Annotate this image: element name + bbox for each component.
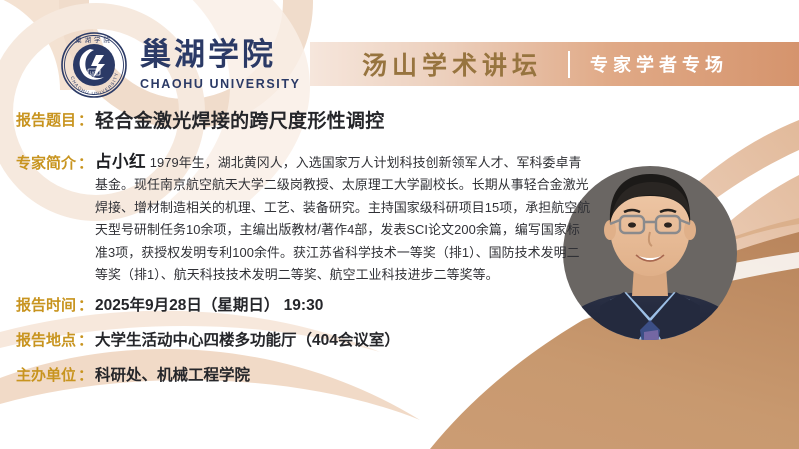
poster-content: 报告题目 ： 轻合金激光焊接的跨尺度形性调控 专家简介 ： 占小红 1979年生… (0, 0, 799, 449)
bio-line-4: 天型号研制任务10余项，主编出版教材/著作4部，发表SCI论文200余篇，编写国… (95, 219, 565, 241)
report-title-row: 报告题目 ： 轻合金激光焊接的跨尺度形性调控 (16, 108, 385, 136)
report-title-label: 报告题目 (16, 108, 76, 134)
report-time-label: 报告时间 (16, 293, 76, 319)
bio-line-3: 焊接、增材制造相关的机理、工艺、装备研究。主持国家级科研项目15项，承担航空航 (95, 197, 565, 219)
report-time-value: 2025年9月28日（星期日） 19:30 (95, 293, 323, 319)
report-place-row: 报告地点 ： 大学生活动中心四楼多功能厅（404会议室） (16, 328, 400, 354)
bio-line-5: 准3项，获授权发明专利100余件。获江苏省科学技术一等奖（排1）、国防技术发明二 (95, 242, 565, 264)
report-place-label: 报告地点 (16, 328, 76, 354)
report-place-colon: ： (76, 328, 95, 354)
report-title-colon: ： (76, 108, 95, 134)
report-place-value: 大学生活动中心四楼多功能厅（404会议室） (95, 328, 400, 354)
report-host-colon: ： (76, 363, 95, 389)
report-host-row: 主办单位 ： 科研处、机械工程学院 (16, 363, 250, 389)
bio-line-1-text: 1979年生，湖北黄冈人，入选国家万人计划科技创新领军人才、军科委卓青 (150, 155, 582, 170)
poster-canvas: 1977 巢湖学院 CHAOHU UNIVERSITY 巢湖学院 CHAOHU … (0, 0, 799, 449)
report-title-value: 轻合金激光焊接的跨尺度形性调控 (95, 108, 385, 136)
bio-line-2: 基金。现任南京航空航天大学二级岗教授、太原理工大学副校长。长期从事轻合金激光 (95, 174, 565, 196)
speaker-bio-colon: ： (76, 151, 95, 177)
report-host-value: 科研处、机械工程学院 (95, 363, 250, 389)
report-time-row: 报告时间 ： 2025年9月28日（星期日） 19:30 (16, 293, 323, 319)
report-host-label: 主办单位 (16, 363, 76, 389)
bio-line-6: 等奖（排1）、航天科技技术发明二等奖、航空工业科技进步二等奖等。 (95, 264, 565, 286)
bio-line-1: 占小红 1979年生，湖北黄冈人，入选国家万人计划科技创新领军人才、军科委卓青 (95, 151, 565, 174)
report-time-colon: ： (76, 293, 95, 319)
speaker-bio-label: 专家简介 (16, 151, 76, 177)
speaker-name: 占小红 (95, 153, 146, 171)
speaker-bio-body: 占小红 1979年生，湖北黄冈人，入选国家万人计划科技创新领军人才、军科委卓青 … (95, 151, 565, 286)
speaker-bio-row: 专家简介 ： 占小红 1979年生，湖北黄冈人，入选国家万人计划科技创新领军人才… (16, 151, 556, 286)
